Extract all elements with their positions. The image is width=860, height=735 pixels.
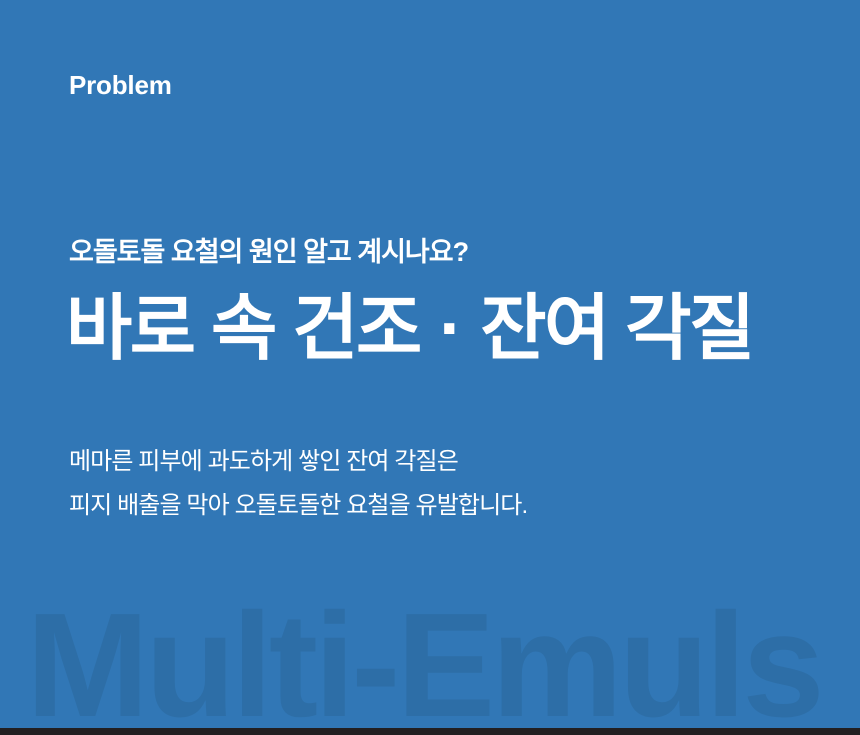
headline-part-one: 바로 속 건조 [66,289,420,369]
bottom-edge-strip [0,728,860,735]
section-content: Problem 오돌토돌 요철의 원인 알고 계시나요? 바로 속 건조 · 잔… [0,0,860,735]
body-copy-line-2: 피지 배출을 막아 오돌토돌한 요철을 유발합니다. [69,484,527,528]
headline-separator-dot: · [437,289,462,369]
section-kicker-question: 오돌토돌 요철의 원인 알고 계시나요? [69,235,468,270]
headline-part-two: 잔여 각질 [480,289,752,369]
section-body-copy: 메마른 피부에 과도하게 쌓인 잔여 각질은 피지 배출을 막아 오돌토돌한 요… [69,440,527,528]
section-headline: 바로 속 건조 · 잔여 각질 [66,288,753,371]
problem-section-slide: Multi-Emuls Problem 오돌토돌 요철의 원인 알고 계시나요?… [0,0,860,735]
section-eyebrow-label: Problem [69,71,172,101]
body-copy-line-1: 메마른 피부에 과도하게 쌓인 잔여 각질은 [69,440,527,484]
